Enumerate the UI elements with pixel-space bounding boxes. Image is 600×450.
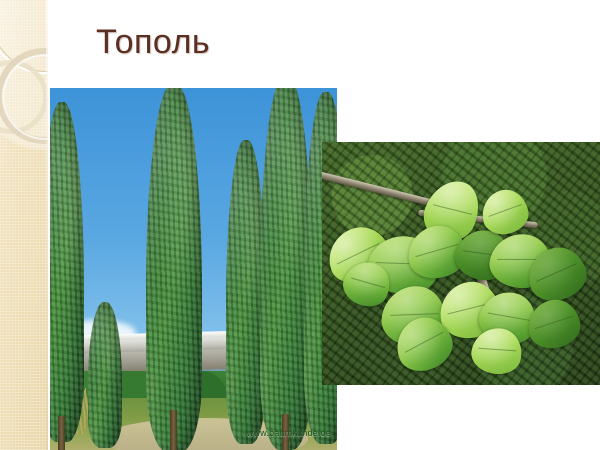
tree-photo: www.baumkunde.de: [50, 88, 337, 450]
tree-trunk: [58, 416, 65, 450]
poplar-tree: [146, 88, 202, 450]
slide: Тополь www.baumkunde.de: [0, 0, 600, 450]
decorative-sidebar: [0, 0, 48, 450]
tree-trunk: [170, 410, 177, 450]
sidebar-edge: [46, 0, 48, 450]
leaf-photo: [322, 142, 600, 385]
poplar-tree: [88, 302, 122, 448]
photo-watermark: www.baumkunde.de: [247, 428, 331, 438]
page-title: Тополь: [96, 24, 210, 61]
